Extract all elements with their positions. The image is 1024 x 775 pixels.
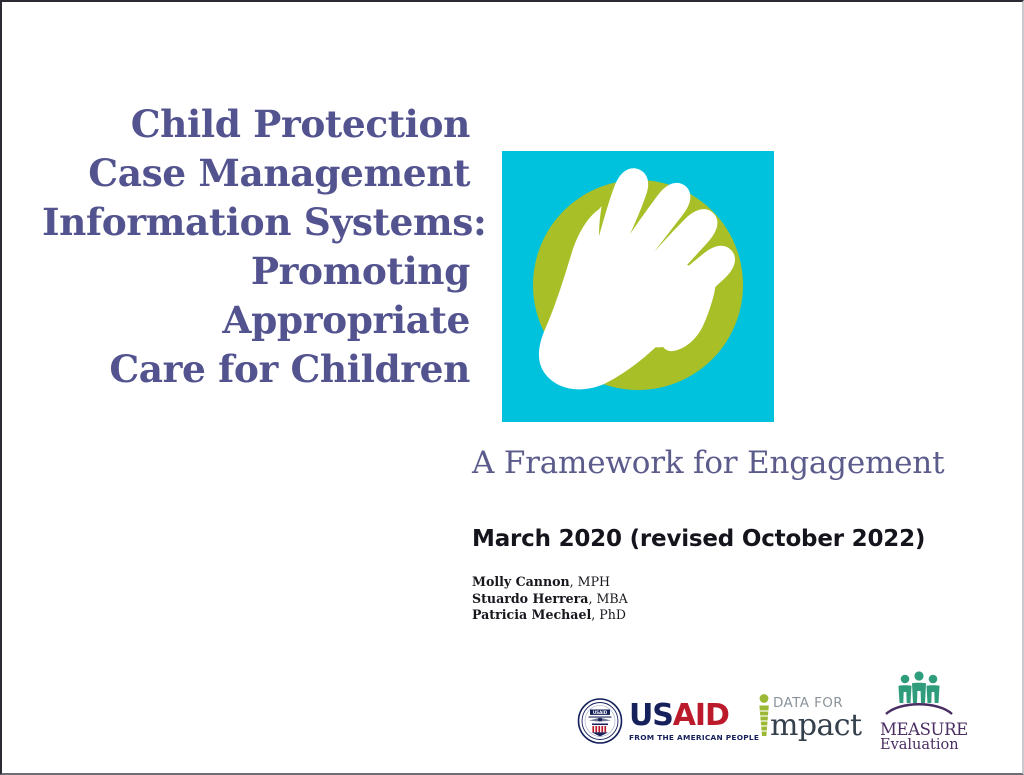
document-cover-page: Child Protection Case Management Informa… <box>0 0 1024 775</box>
page-title: Child Protection Case Management Informa… <box>42 100 470 394</box>
publication-date: March 2020 (revised October 2022) <box>472 524 925 554</box>
author-name: Patricia Mechael <box>472 607 591 622</box>
title-line-1: Child Protection <box>42 100 470 149</box>
title-line-5: Appropriate <box>42 296 470 345</box>
author-list: Molly Cannon, MPH Stuardo Herrera, MBA P… <box>472 574 628 624</box>
usaid-logo: USAID USAID FROM THE AMERICAN PEOP <box>577 698 759 744</box>
author-row: Patricia Mechael, PhD <box>472 607 628 624</box>
helping-hands-illustration <box>502 151 774 422</box>
author-credential: , PhD <box>591 607 626 622</box>
author-row: Stuardo Herrera, MBA <box>472 591 628 608</box>
dfi-figure-icon <box>759 694 768 736</box>
data-for-impact-mark: DATA FOR mpact <box>755 690 863 742</box>
subtitle: A Framework for Engagement <box>472 443 992 483</box>
title-line-4: Promoting <box>42 247 470 296</box>
usaid-main-text: USAID <box>629 701 759 731</box>
data-for-impact-logo: DATA FOR mpact <box>755 690 863 742</box>
dfi-main-text: mpact <box>770 708 862 742</box>
measure-people-icon <box>880 670 958 716</box>
measure-line-2: Evaluation <box>880 738 958 753</box>
author-name: Stuardo Herrera <box>472 591 588 606</box>
usaid-seal-icon: USAID <box>577 698 623 744</box>
usaid-tagline: FROM THE AMERICAN PEOPLE <box>629 733 759 742</box>
usaid-aid-text: AID <box>673 698 729 733</box>
author-name: Molly Cannon <box>472 574 570 589</box>
measure-evaluation-logo: MEASURE Evaluation <box>880 670 958 752</box>
author-credential: , MBA <box>588 591 627 606</box>
svg-text:USAID: USAID <box>593 710 608 715</box>
title-line-3: Information Systems: <box>42 198 470 247</box>
usaid-wordmark: USAID FROM THE AMERICAN PEOPLE <box>629 701 759 742</box>
author-credential: , MPH <box>570 574 610 589</box>
title-line-6: Care for Children <box>42 345 470 394</box>
measure-line-1: MEASURE <box>880 721 958 738</box>
logo-strip: USAID USAID FROM THE AMERICAN PEOP <box>577 670 967 756</box>
author-row: Molly Cannon, MPH <box>472 574 628 591</box>
title-line-2: Case Management <box>42 149 470 198</box>
usaid-us-text: US <box>629 698 673 733</box>
